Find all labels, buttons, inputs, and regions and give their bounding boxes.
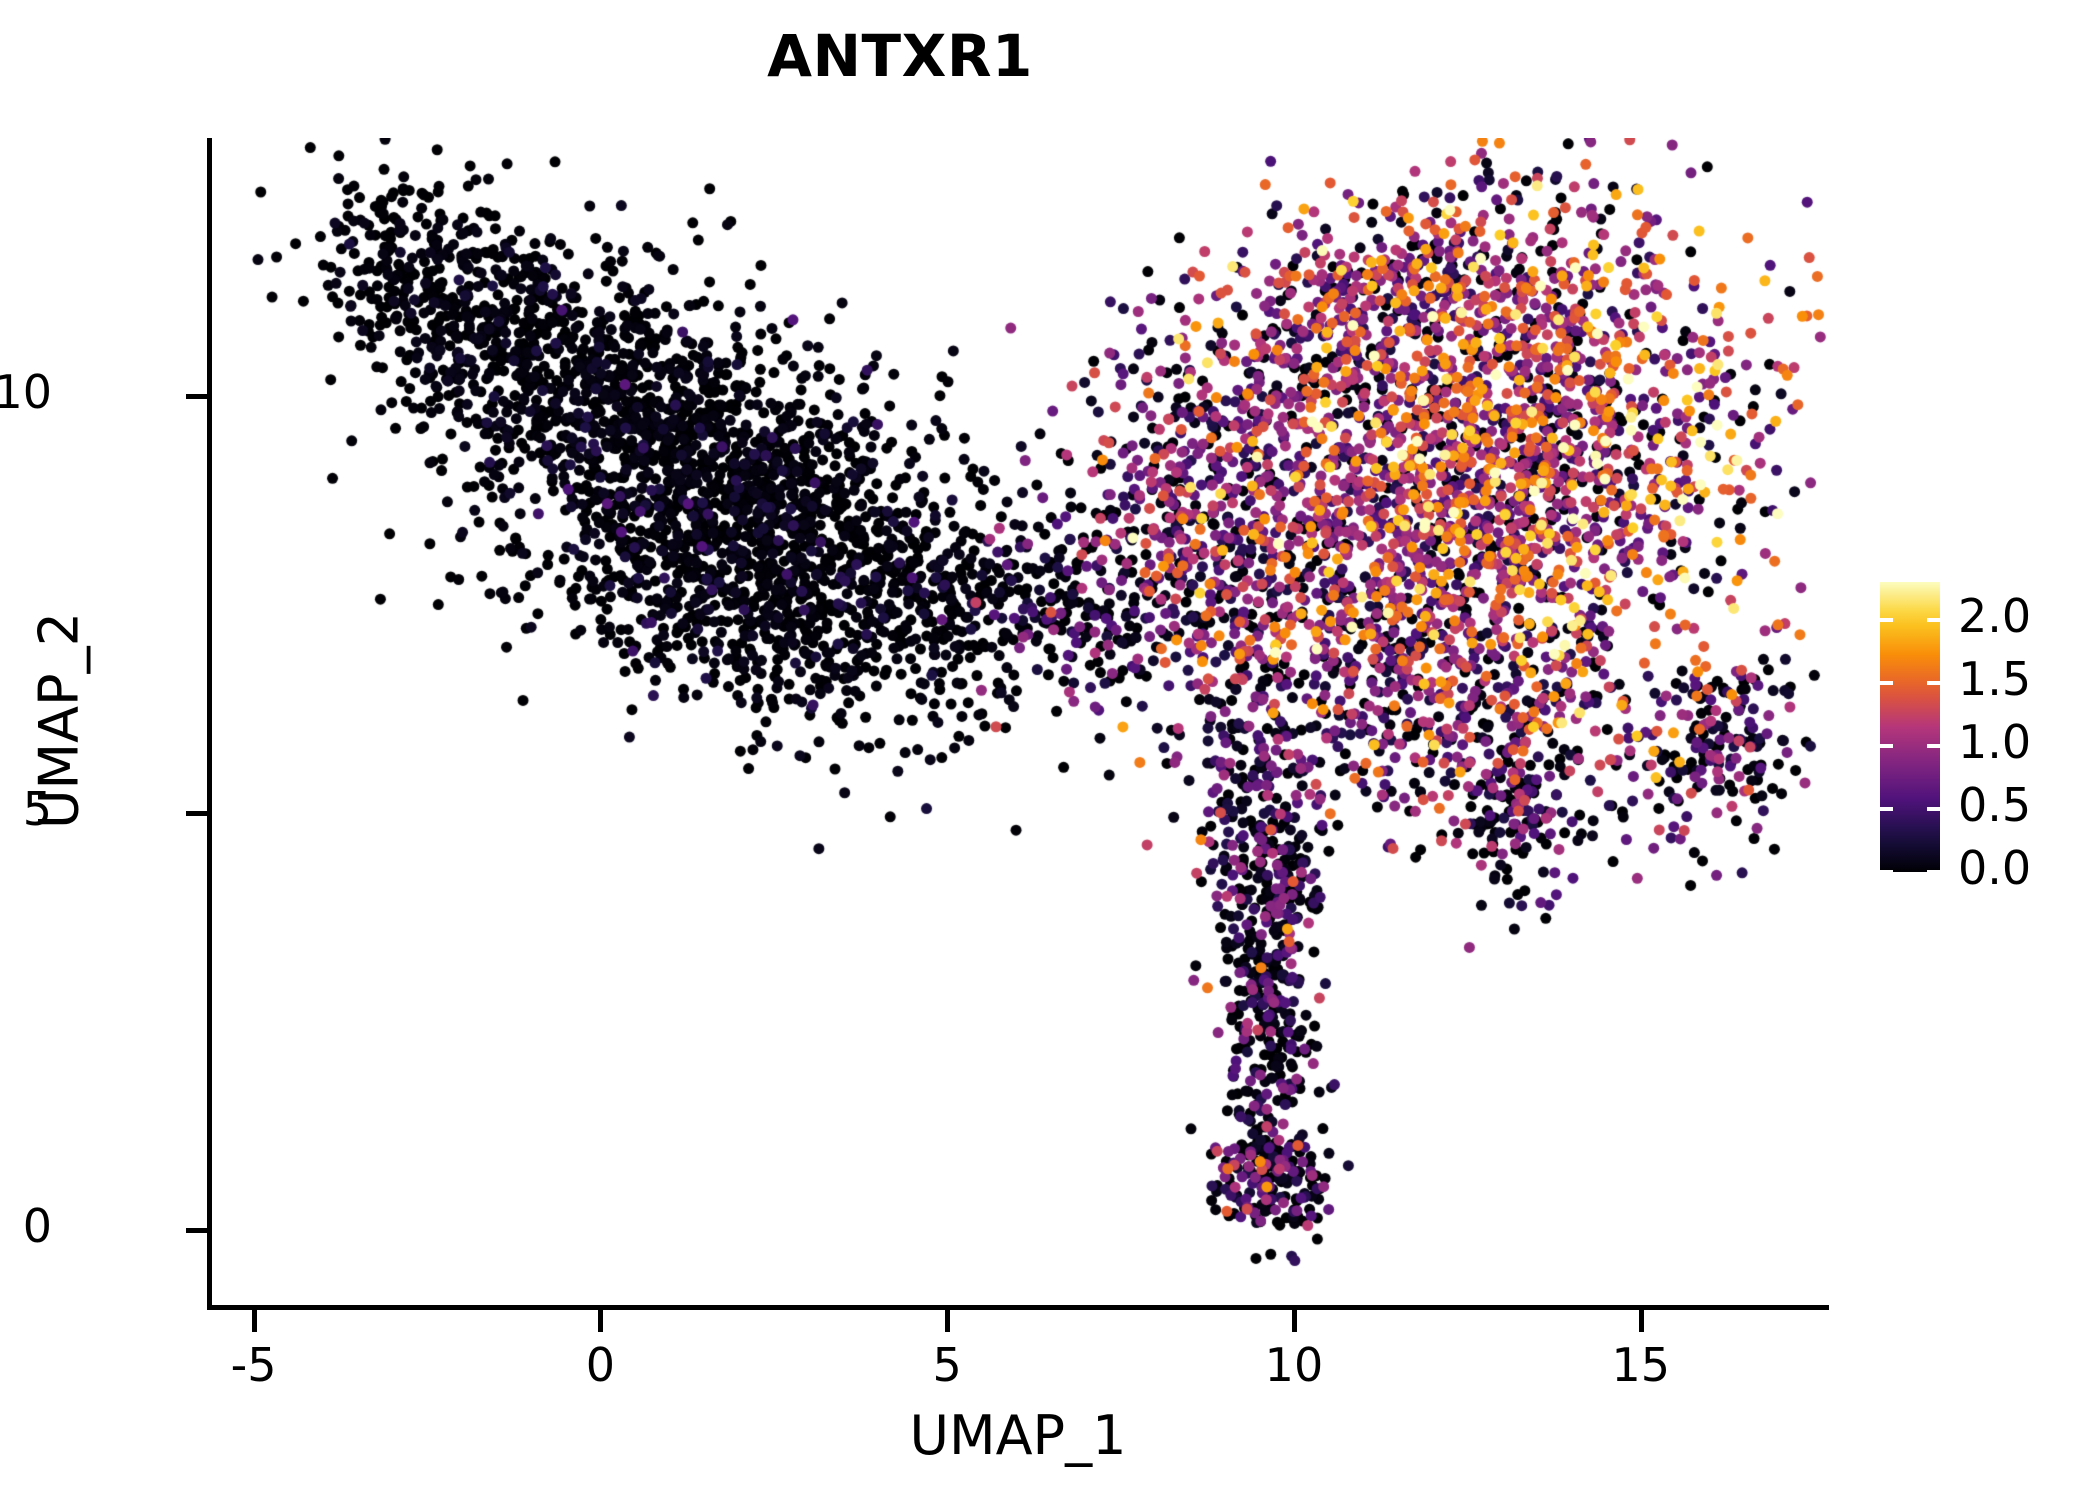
colorbar-tick-mark	[1927, 744, 1940, 748]
page-title: ANTXR1	[0, 22, 1800, 90]
y-tick-mark	[186, 1228, 208, 1233]
colorbar-tick-mark	[1880, 744, 1893, 748]
x-tick-mark	[945, 1310, 950, 1332]
colorbar-tick-label: 0.0	[1958, 841, 2031, 895]
x-tick-label: -5	[174, 1338, 334, 1392]
x-tick-label: 10	[1214, 1338, 1374, 1392]
x-tick-mark	[252, 1310, 257, 1332]
colorbar-tick-mark	[1880, 681, 1893, 685]
colorbar-tick-label: 1.5	[1958, 652, 2031, 706]
x-tick-label: 15	[1561, 1338, 1721, 1392]
y-tick-mark	[186, 394, 208, 399]
colorbar-tick-mark	[1880, 870, 1893, 874]
y-axis-title: UMAP_2	[28, 135, 91, 1307]
x-tick-mark	[1292, 1310, 1297, 1332]
colorbar-gradient	[1880, 582, 1940, 872]
scatter-plot-canvas	[212, 138, 1828, 1305]
feature-plot-figure: ANTXR1 0510 -5051015 UMAP_1 UMAP_2 2.01.…	[0, 0, 2100, 1500]
x-tick-mark	[598, 1310, 603, 1332]
colorbar-tick-mark	[1927, 807, 1940, 811]
colorbar-tick-mark	[1927, 870, 1940, 874]
colorbar-tick-mark	[1927, 618, 1940, 622]
y-axis-line	[207, 138, 212, 1310]
colorbar-tick-label: 1.0	[1958, 715, 2031, 769]
x-tick-label: 0	[520, 1338, 680, 1392]
colorbar-tick-mark	[1927, 681, 1940, 685]
y-tick-mark	[186, 811, 208, 816]
x-axis-line	[207, 1305, 1829, 1310]
x-axis-title: UMAP_1	[207, 1404, 1829, 1467]
x-tick-mark	[1639, 1310, 1644, 1332]
x-tick-label: 5	[867, 1338, 1027, 1392]
colorbar-tick-mark	[1880, 807, 1893, 811]
colorbar-tick-mark	[1880, 618, 1893, 622]
colorbar-tick-label: 0.5	[1958, 778, 2031, 832]
colorbar-legend: 2.01.51.00.50.0	[1880, 582, 2080, 902]
colorbar-tick-label: 2.0	[1958, 589, 2031, 643]
